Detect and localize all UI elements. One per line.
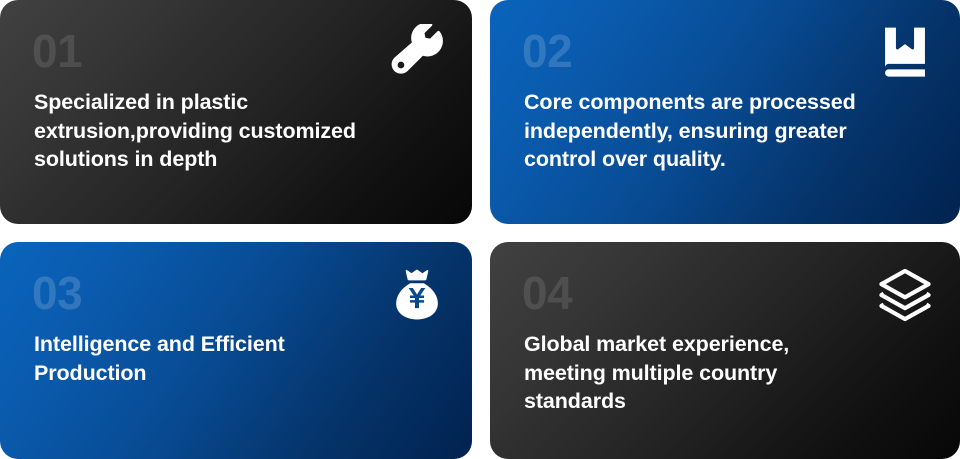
feature-card-03[interactable]: 03 Intelligence and Efficient Production xyxy=(0,242,472,459)
card-number: 03 xyxy=(32,270,446,316)
card-description: Intelligence and Efficient Production xyxy=(34,330,446,387)
card-number: 02 xyxy=(522,28,934,74)
wrench-icon xyxy=(388,24,446,82)
feature-card-grid: 01 Specialized in plastic extrusion,prov… xyxy=(0,0,960,459)
card-description: Global market experience, meeting multip… xyxy=(524,330,934,416)
layers-icon xyxy=(876,266,934,324)
feature-card-02[interactable]: 02 Core components are processed indepen… xyxy=(490,0,960,224)
card-number: 01 xyxy=(32,28,446,74)
card-number: 04 xyxy=(522,270,934,316)
card-description: Core components are processed independen… xyxy=(524,88,934,174)
feature-card-04[interactable]: 04 Global market experience, meeting mul… xyxy=(490,242,960,459)
card-description: Specialized in plastic extrusion,providi… xyxy=(34,88,446,174)
book-bookmark-icon xyxy=(876,24,934,82)
money-bag-yen-icon xyxy=(388,266,446,324)
feature-card-01[interactable]: 01 Specialized in plastic extrusion,prov… xyxy=(0,0,472,224)
